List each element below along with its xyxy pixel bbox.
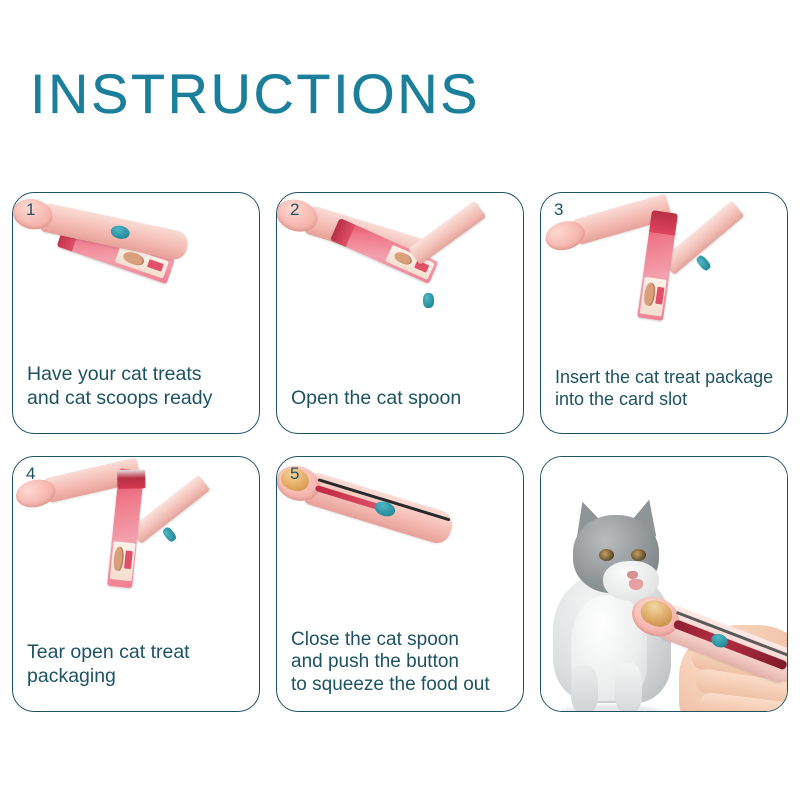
step-caption-5: Close the cat spoon and push the button …	[291, 629, 515, 697]
dispenser-button-icon	[695, 254, 712, 272]
dispenser-button-icon	[423, 293, 434, 308]
steps-grid: 1 Have your cat treats and cat scoops re…	[12, 192, 788, 712]
step-illustration-3	[541, 193, 787, 343]
kitten-photo	[541, 457, 787, 711]
step-card-4: 4 Tear open cat treat packaging	[12, 456, 260, 712]
step-number-5: 5	[290, 465, 299, 482]
step-caption-3: Insert the cat treat package into the ca…	[555, 367, 779, 411]
cat-nose	[627, 571, 638, 579]
step-number-4: 4	[26, 465, 35, 482]
instructions-page: INSTRUCTIONS 1 Have your cat treats and …	[0, 0, 800, 800]
step-card-5: 5 Close the cat spoon and push the butto…	[276, 456, 524, 712]
step-number-2: 2	[290, 201, 299, 218]
step-card-photo	[540, 456, 788, 712]
step-illustration-1	[13, 193, 259, 343]
step-caption-2: Open the cat spoon	[291, 387, 515, 411]
sachet-cat-label	[109, 541, 135, 581]
sachet-cat-label	[639, 277, 667, 317]
cat-front-leg-left	[571, 665, 598, 711]
closed-spoon-dispenser-icon	[276, 458, 457, 549]
step-illustration-2	[277, 193, 523, 343]
step-caption-1: Have your cat treats and cat scoops read…	[27, 363, 251, 411]
cat-eye-left	[599, 549, 614, 561]
page-title: INSTRUCTIONS	[30, 66, 480, 122]
step-card-3: 3 Insert the cat treat package into the …	[540, 192, 788, 434]
step-illustration-5	[277, 457, 523, 607]
step-illustration-4	[13, 457, 259, 607]
dispenser-button-icon	[161, 526, 177, 543]
cat-eye-right	[631, 549, 646, 561]
step-card-2: 2 Open the cat spoon	[276, 192, 524, 434]
sachet-crimp	[649, 210, 678, 235]
dispenser-lid-icon	[408, 201, 486, 265]
step-number-3: 3	[554, 201, 563, 218]
sachet-torn-edge	[117, 469, 145, 488]
cat-front-leg-right	[615, 663, 642, 711]
step-card-1: 1 Have your cat treats and cat scoops re…	[12, 192, 260, 434]
step-caption-4: Tear open cat treat packaging	[27, 641, 251, 689]
step-number-1: 1	[26, 201, 35, 218]
